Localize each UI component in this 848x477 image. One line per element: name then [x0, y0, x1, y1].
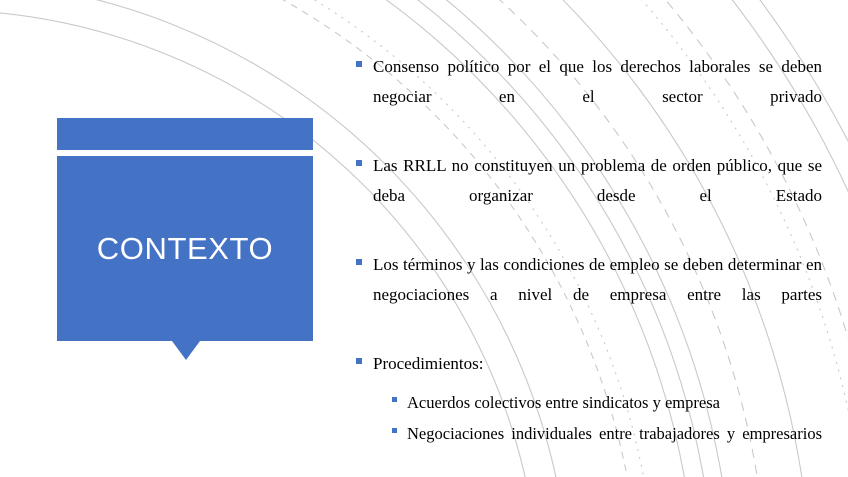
sub-bullet-item: Acuerdos colectivos entre sindicatos y e… — [392, 388, 822, 417]
slide-canvas: CONTEXTO Consenso político por el que lo… — [0, 0, 848, 477]
bullet-text: Los términos y las condiciones de empleo… — [373, 250, 822, 340]
bullet-item: Las RRLL no constituyen un problema de o… — [356, 151, 822, 241]
bullet-item: Consenso político por el que los derecho… — [356, 52, 822, 142]
bullet-text: Consenso político por el que los derecho… — [373, 52, 822, 142]
square-bullet-icon — [356, 160, 362, 166]
callout-pointer-triangle — [172, 341, 200, 360]
callout-top-bar — [57, 118, 313, 150]
square-bullet-icon — [392, 397, 397, 402]
square-bullet-icon — [356, 259, 362, 265]
square-bullet-icon — [356, 358, 362, 364]
bullet-text: Las RRLL no constituyen un problema de o… — [373, 151, 822, 241]
bullet-text: Procedimientos: — [373, 349, 822, 379]
sub-bullet-text: Negociaciones individuales entre trabaja… — [407, 419, 822, 477]
sub-bullet-item: Negociaciones individuales entre trabaja… — [392, 419, 822, 477]
sub-bullet-text: Acuerdos colectivos entre sindicatos y e… — [407, 388, 822, 417]
square-bullet-icon — [356, 61, 362, 67]
bullet-list: Consenso político por el que los derecho… — [356, 52, 822, 477]
bullet-item: Los términos y las condiciones de empleo… — [356, 250, 822, 340]
callout-title: CONTEXTO — [57, 156, 313, 341]
square-bullet-icon — [392, 428, 397, 433]
bullet-item: Procedimientos: — [356, 349, 822, 379]
